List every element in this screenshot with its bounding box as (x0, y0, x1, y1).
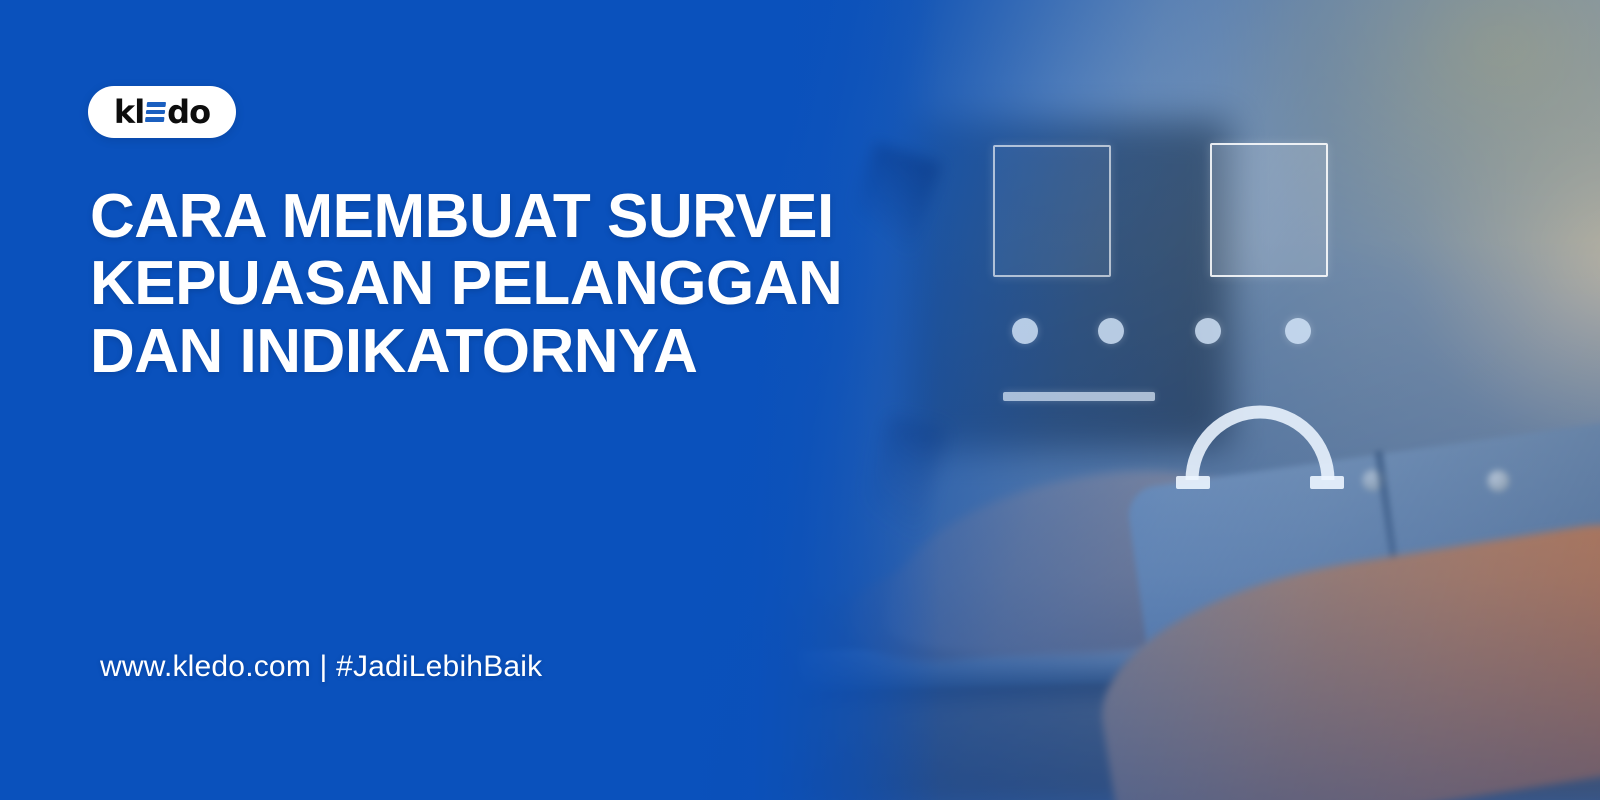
kledo-logo-wordmark: kl do (114, 96, 210, 128)
footer-website-hashtag: www.kledo.com | #JadiLebihBaik (100, 650, 542, 684)
kledo-e-bars-icon (145, 101, 166, 123)
page-title: Cara Membuat Survei Kepuasan Pelanggan D… (90, 183, 1010, 385)
page-title-line-1: Cara Membuat Survei (90, 183, 1010, 250)
logo-text-do: do (167, 96, 210, 128)
blog-banner: kl do Cara Membuat Survei Kepuasan Pelan… (0, 0, 1600, 800)
photo-left-feather (640, 0, 940, 800)
page-title-line-2: Kepuasan Pelanggan (90, 250, 1010, 317)
page-title-line-3: Dan Indikatornya (90, 318, 1010, 385)
kledo-logo[interactable]: kl do (88, 86, 236, 138)
logo-text-kl: kl (114, 96, 144, 128)
